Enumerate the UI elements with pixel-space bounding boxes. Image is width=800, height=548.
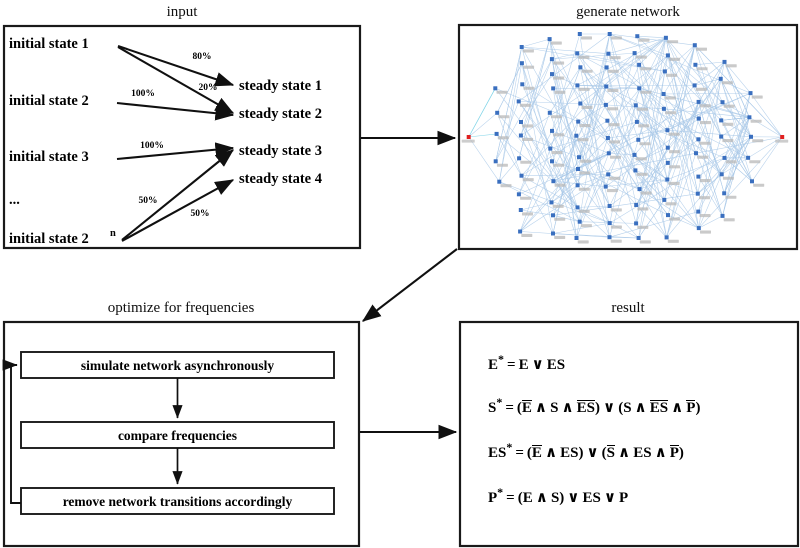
probability-label-100-is2: 100% bbox=[131, 89, 155, 99]
probability-label-80: 80% bbox=[193, 52, 212, 62]
probability-label-50-ss4: 50% bbox=[191, 209, 210, 219]
initial-state-2n-exponent: n bbox=[110, 228, 116, 239]
input-panel-box bbox=[4, 26, 360, 248]
probability-label-100-is3: 100% bbox=[140, 141, 164, 151]
pipeline-diagram: input generate network optimize for freq… bbox=[0, 0, 800, 548]
step-label-simulate: simulate network asynchronously bbox=[81, 358, 275, 373]
steady-state-3-label: steady state 3 bbox=[239, 143, 322, 159]
initial-state-2-label: initial state 2 bbox=[9, 93, 89, 109]
result-panel-box bbox=[460, 322, 798, 546]
optimize-panel-title: optimize for frequencies bbox=[108, 300, 255, 316]
initial-state-ellipsis: ... bbox=[9, 192, 20, 208]
result-panel-title: result bbox=[611, 300, 645, 316]
figure-root: input generate network optimize for freq… bbox=[0, 0, 800, 548]
input-panel-title: input bbox=[167, 4, 199, 20]
probability-label-50-ss3: 50% bbox=[139, 196, 158, 206]
arrow-network-to-optimize bbox=[363, 249, 457, 321]
initial-state-2n-base: initial state 2 bbox=[9, 231, 89, 247]
steady-state-2-label: steady state 2 bbox=[239, 106, 322, 122]
initial-state-1-label: initial state 1 bbox=[9, 36, 89, 52]
steady-state-4-label: steady state 4 bbox=[239, 171, 322, 187]
step-label-remove: remove network transitions accordingly bbox=[63, 494, 293, 509]
network-panel-title: generate network bbox=[576, 4, 680, 20]
step-label-compare: compare frequencies bbox=[118, 428, 237, 443]
steady-state-1-label: steady state 1 bbox=[239, 78, 322, 94]
probability-label-20: 20% bbox=[199, 83, 218, 93]
initial-state-3-label: initial state 3 bbox=[9, 149, 89, 165]
